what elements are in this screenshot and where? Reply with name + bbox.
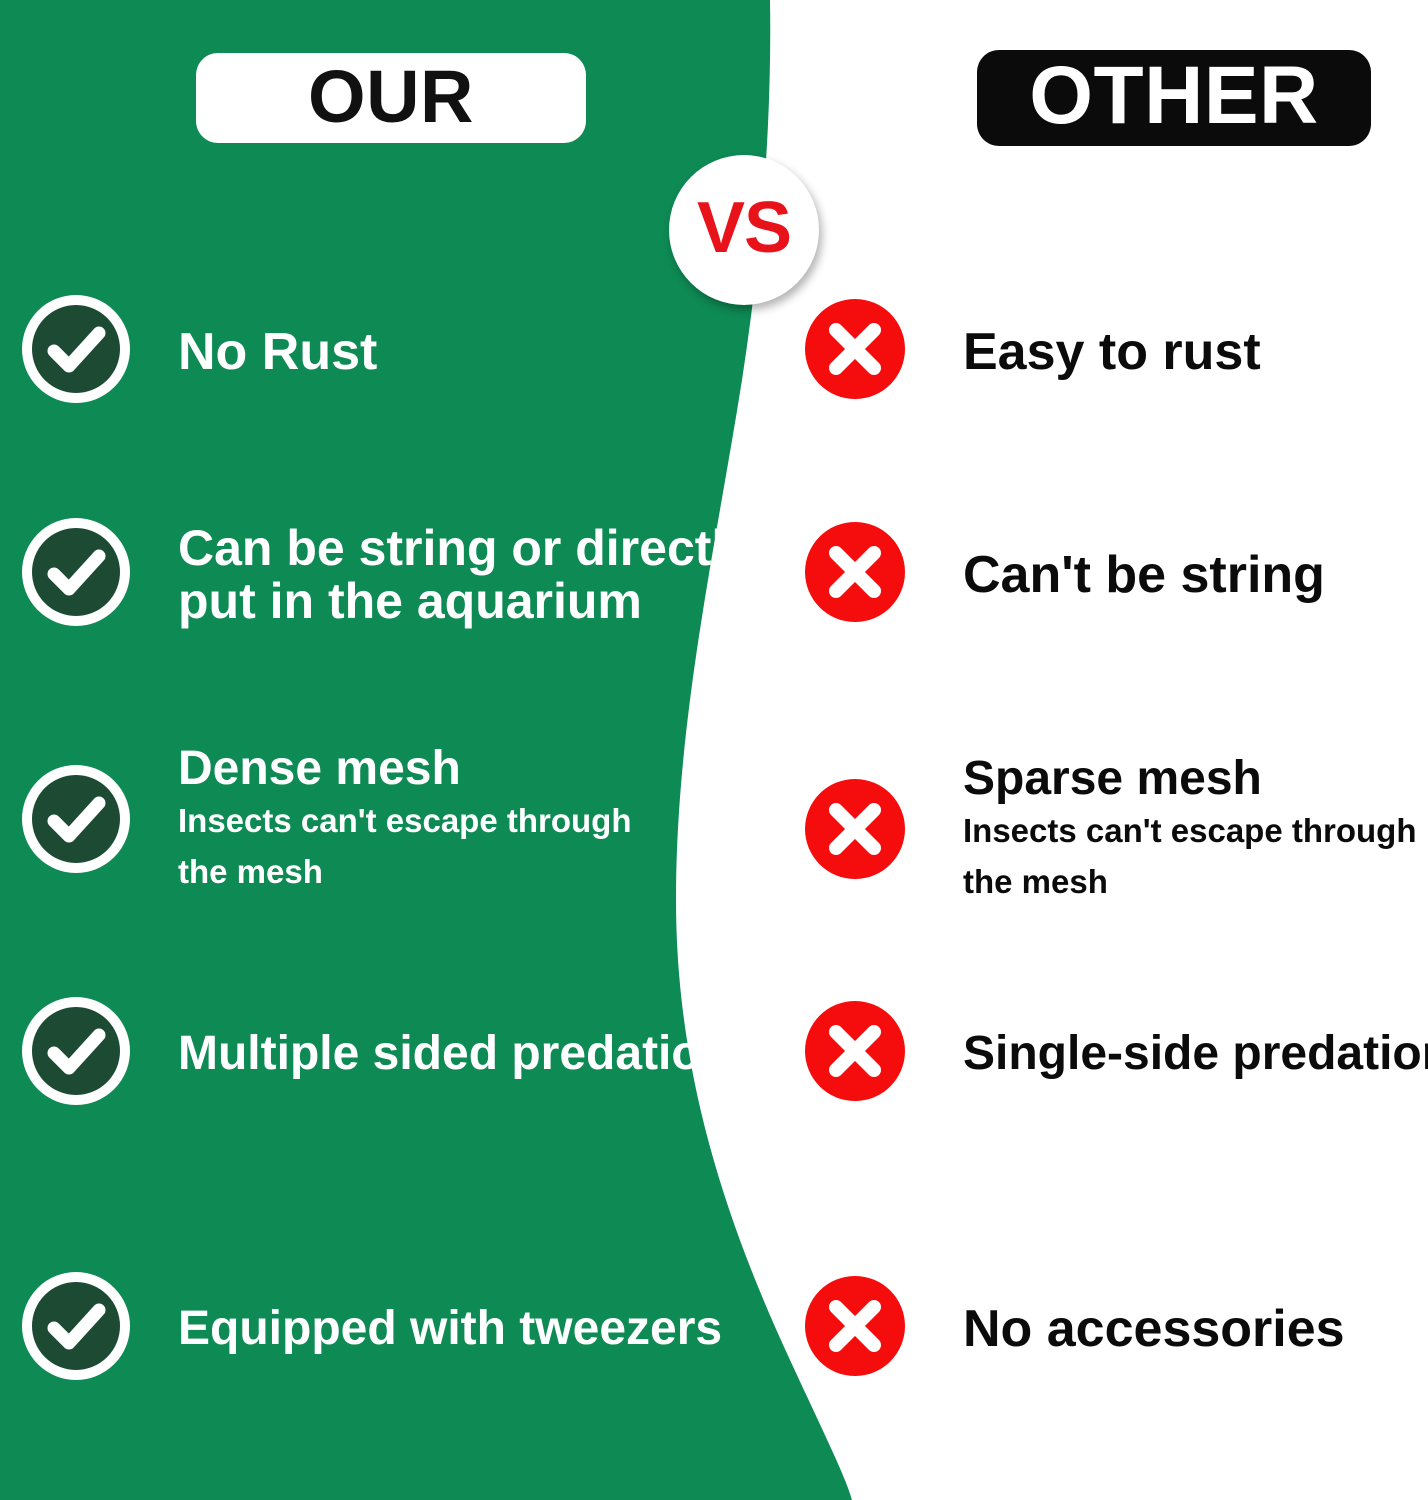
comparison-poster: OUR OTHER VS No Rust Can be string or di… bbox=[0, 0, 1428, 1500]
check-circle-icon bbox=[22, 765, 130, 878]
our-row-multi-predation: Multiple sided predation bbox=[22, 997, 730, 1110]
other-row-cant-string: Can't be string bbox=[805, 522, 1325, 627]
vs-badge: VS bbox=[669, 155, 819, 305]
our-row-title: Dense mesh bbox=[178, 745, 631, 793]
check-circle-icon bbox=[22, 518, 130, 631]
other-row-text: Sparse mesh Insects can't escape through… bbox=[905, 755, 1416, 907]
other-row-single-predation: Single-side predation bbox=[805, 1001, 1428, 1106]
x-circle-icon bbox=[805, 299, 905, 404]
x-circle-icon bbox=[805, 1001, 905, 1106]
badge-other-label: OTHER bbox=[1029, 49, 1319, 143]
our-row-title: Equipped with tweezers bbox=[178, 1305, 722, 1353]
x-circle-icon bbox=[805, 779, 905, 884]
x-circle-icon bbox=[805, 1276, 905, 1381]
our-row-text: Multiple sided predation bbox=[130, 1030, 730, 1078]
check-circle-icon bbox=[22, 997, 130, 1110]
other-row-no-accessories: No accessories bbox=[805, 1276, 1345, 1381]
check-circle-icon bbox=[22, 1272, 130, 1385]
our-row-text: Dense mesh Insects can't escape through … bbox=[130, 745, 631, 897]
vs-label: VS bbox=[697, 192, 791, 268]
other-row-text: No accessories bbox=[905, 1303, 1345, 1355]
our-row-title: Can be string or directly put in the aqu… bbox=[178, 522, 753, 628]
other-row-title: Easy to rust bbox=[963, 326, 1261, 378]
other-row-title: Single-side predation bbox=[963, 1030, 1428, 1078]
our-row-text: Can be string or directly put in the aqu… bbox=[130, 522, 753, 628]
badge-our: OUR bbox=[196, 53, 586, 143]
other-row-text: Single-side predation bbox=[905, 1030, 1428, 1078]
other-row-title: Sparse mesh bbox=[963, 755, 1416, 803]
x-circle-icon bbox=[805, 522, 905, 627]
our-row-text: Equipped with tweezers bbox=[130, 1305, 722, 1353]
badge-our-label: OUR bbox=[308, 54, 474, 139]
other-row-sparse-mesh: Sparse mesh Insects can't escape through… bbox=[805, 755, 1416, 907]
badge-other: OTHER bbox=[977, 50, 1371, 146]
other-row-easy-rust: Easy to rust bbox=[805, 299, 1261, 404]
our-row-no-rust: No Rust bbox=[22, 295, 377, 408]
our-row-title: No Rust bbox=[178, 326, 377, 378]
our-row-tweezers: Equipped with tweezers bbox=[22, 1272, 722, 1385]
check-circle-icon bbox=[22, 295, 130, 408]
our-row-title: Multiple sided predation bbox=[178, 1030, 730, 1078]
other-row-text: Can't be string bbox=[905, 549, 1325, 601]
other-row-subtitle: Insects can't escape through the mesh bbox=[963, 805, 1416, 907]
other-row-title: No accessories bbox=[963, 1303, 1345, 1355]
our-row-dense-mesh: Dense mesh Insects can't escape through … bbox=[22, 745, 631, 897]
our-row-subtitle: Insects can't escape through the mesh bbox=[178, 795, 631, 897]
other-row-text: Easy to rust bbox=[905, 326, 1261, 378]
our-row-string: Can be string or directly put in the aqu… bbox=[22, 518, 753, 631]
our-row-text: No Rust bbox=[130, 326, 377, 378]
other-row-title: Can't be string bbox=[963, 549, 1325, 601]
